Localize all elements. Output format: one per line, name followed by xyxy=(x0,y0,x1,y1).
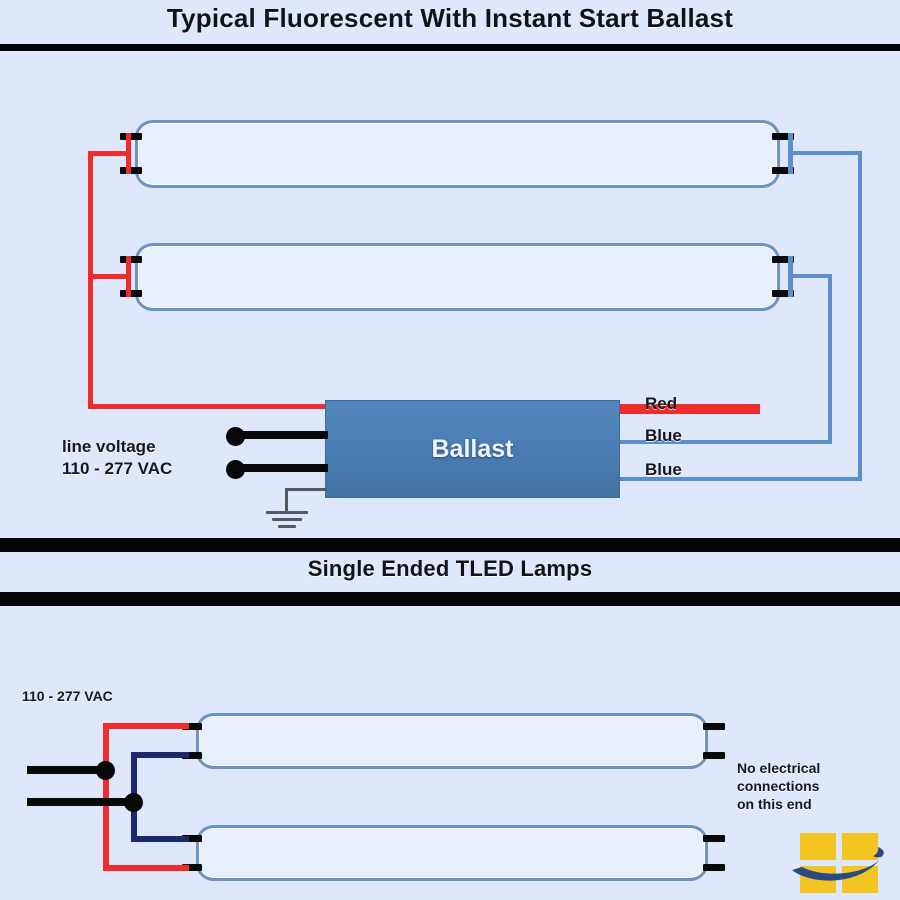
red-wire-trunk-vertical xyxy=(88,151,93,409)
divider-bar-top xyxy=(0,44,900,51)
lower-junction-dot-top xyxy=(96,761,115,780)
tled-tube-1 xyxy=(196,713,708,769)
no-connection-note: No electricalconnectionson this end xyxy=(737,760,820,814)
output-label-blue-1: Blue xyxy=(645,425,682,447)
output-label-blue-2: Blue xyxy=(645,459,682,481)
fluorescent-tube-2 xyxy=(135,243,780,311)
section-title-tled: Single Ended TLED Lamps xyxy=(0,556,900,582)
red-wire-tube2-stub xyxy=(88,274,130,279)
tled-tube-2 xyxy=(196,825,708,881)
line-voltage-label: line voltage110 - 277 VAC xyxy=(62,436,172,480)
tled-2-pin-right-top xyxy=(703,835,725,842)
tled-2-pin-right-bottom xyxy=(703,864,725,871)
blue-wire-outer-vertical xyxy=(858,151,862,481)
blue-wire-tube2-stub xyxy=(790,274,832,278)
divider-bar-mid-lower xyxy=(0,592,900,606)
tube-1-pin-left-bottom xyxy=(120,167,142,174)
ballast-box: Ballast xyxy=(325,400,620,498)
brand-logo xyxy=(790,833,890,895)
lower-lead-bottom xyxy=(27,798,137,806)
ground-wire-vertical xyxy=(285,488,288,512)
line-terminal-dot-bottom xyxy=(226,460,245,479)
tube-2-pin-left-top xyxy=(120,256,142,263)
red-wire-ballast-terminal xyxy=(620,409,760,414)
tube-1-pin-left-top xyxy=(120,133,142,140)
lower-red-bottom-run xyxy=(103,865,189,871)
output-label-red: Red xyxy=(645,393,677,415)
lower-red-vertical xyxy=(103,723,109,871)
lower-voltage-label: 110 - 277 VAC xyxy=(22,688,113,706)
line-terminal-dot-top xyxy=(226,427,245,446)
ground-bar-2 xyxy=(272,518,302,521)
tled-1-pin-right-top xyxy=(703,723,725,730)
blue-wire-inner-vertical xyxy=(828,274,832,444)
ground-bar-3 xyxy=(278,525,296,528)
tled-1-pin-right-bottom xyxy=(703,752,725,759)
line-lead-bottom xyxy=(236,464,328,472)
red-wire-tube1-stub xyxy=(88,151,130,156)
tube-2-pin-left-bottom xyxy=(120,290,142,297)
blue-wire-tube1-stub xyxy=(790,151,862,155)
ground-wire-horizontal xyxy=(285,488,327,491)
ground-bar-1 xyxy=(266,511,308,514)
lower-red-top-run xyxy=(103,723,189,729)
fluorescent-tube-1 xyxy=(135,120,780,188)
ballast-label: Ballast xyxy=(432,435,514,464)
logo-swoosh-icon xyxy=(790,833,890,895)
line-lead-top xyxy=(236,431,328,439)
page-title: Typical Fluorescent With Instant Start B… xyxy=(0,3,900,34)
diagram-page: Typical Fluorescent With Instant Start B… xyxy=(0,0,900,900)
lower-navy-top-run xyxy=(131,752,189,758)
lower-junction-dot-bottom xyxy=(124,793,143,812)
divider-bar-mid-upper xyxy=(0,538,900,552)
lower-navy-bottom-run xyxy=(131,836,189,842)
